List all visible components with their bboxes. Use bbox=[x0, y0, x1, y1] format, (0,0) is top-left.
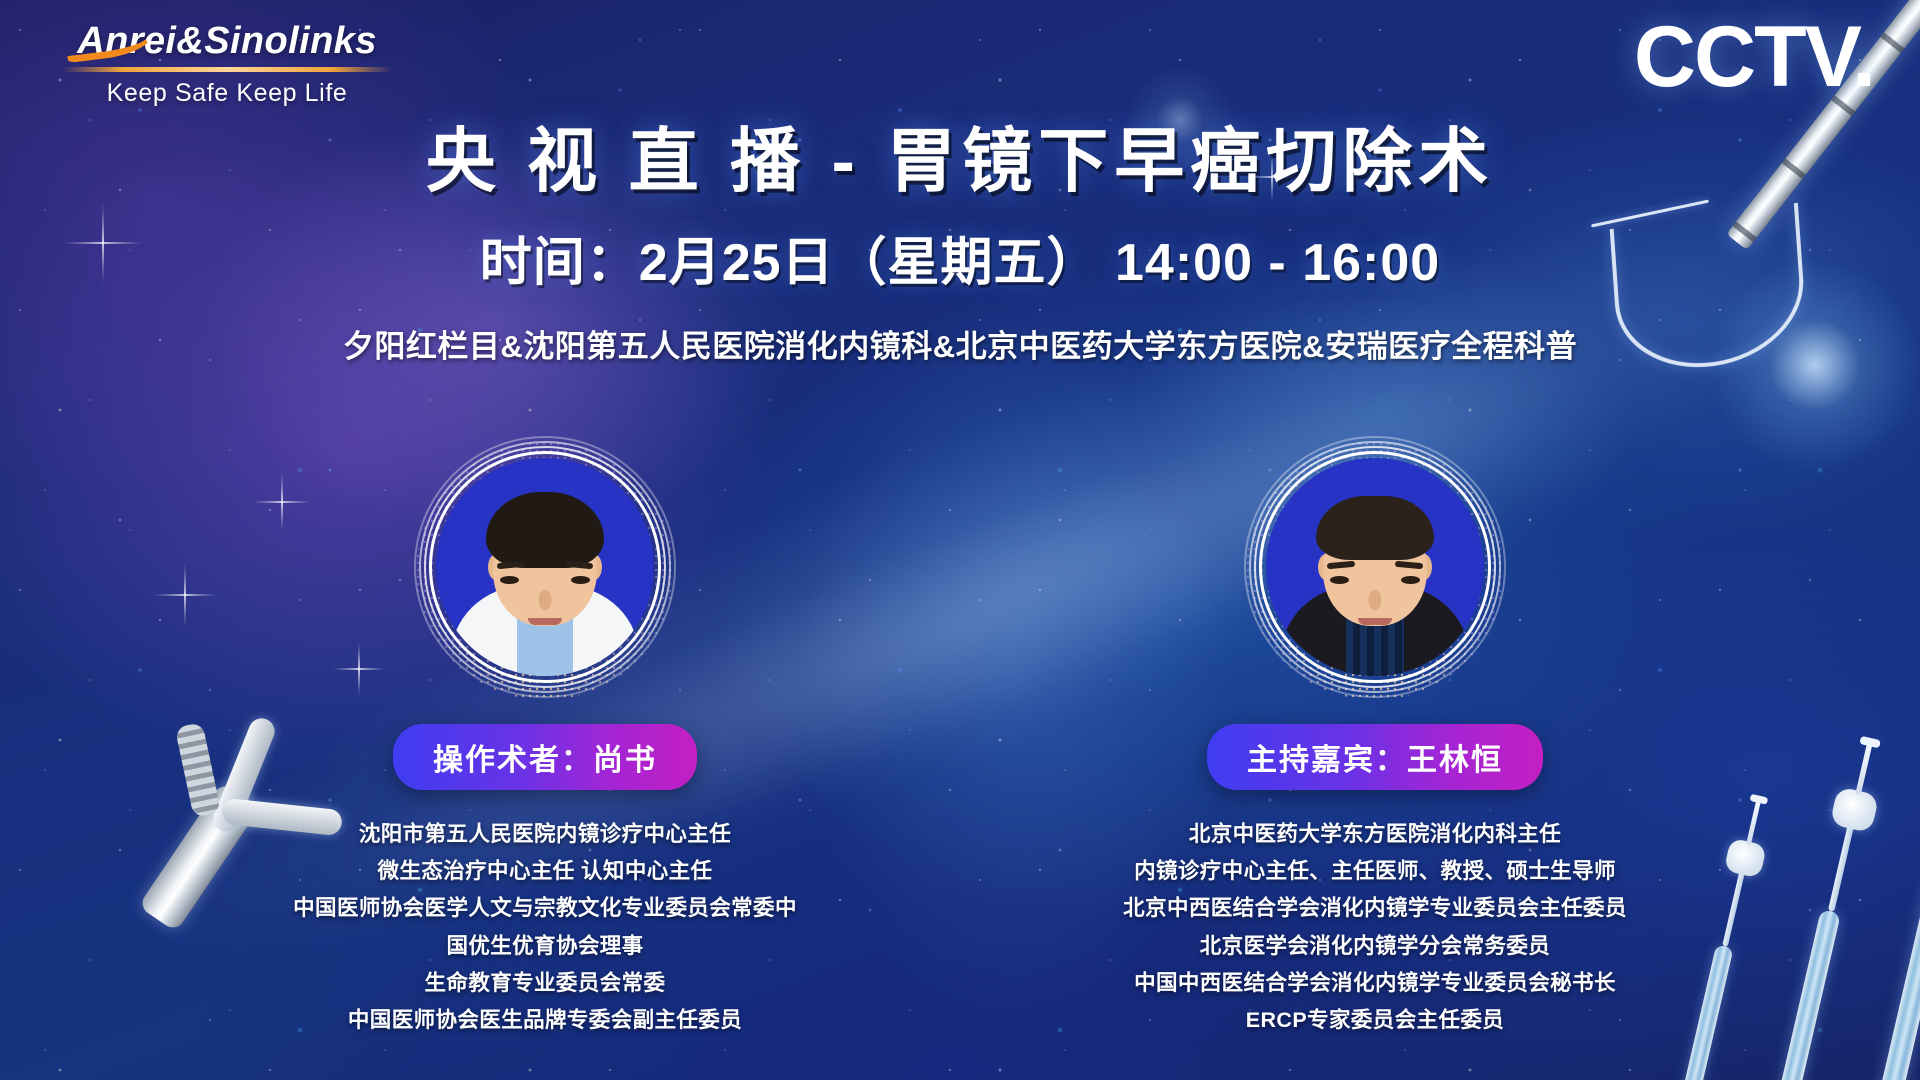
credential-line: 中国医师协会医生品牌专委会副主任委员 bbox=[293, 1002, 797, 1039]
avatar-photo bbox=[436, 458, 654, 676]
credential-line: 国优生优育协会理事 bbox=[293, 928, 797, 965]
credential-line: 生命教育专业委员会常委 bbox=[293, 965, 797, 1002]
brand-divider bbox=[62, 67, 392, 72]
speaker-credentials: 北京中医药大学东方医院消化内科主任 内镜诊疗中心主任、主任医师、教授、硕士生导师… bbox=[1123, 816, 1627, 1039]
avatar-host bbox=[1260, 452, 1490, 682]
credential-line: 中国中西医结合学会消化内镜学专业委员会秘书长 bbox=[1123, 965, 1627, 1002]
speaker-credentials: 沈阳市第五人民医院内镜诊疗中心主任 微生态治疗中心主任 认知中心主任 中国医师协… bbox=[293, 816, 797, 1039]
cctv-logo: CCTV. bbox=[1634, 14, 1874, 100]
credential-line: ERCP专家委员会主任委员 bbox=[1123, 1002, 1627, 1039]
credential-line: 北京中西医结合学会消化内镜学专业委员会主任委员 bbox=[1123, 890, 1627, 927]
brand-tagline: Keep Safe Keep Life bbox=[62, 79, 392, 108]
event-time: 时间：2月25日（星期五） 14:00 - 16:00 bbox=[0, 220, 1920, 295]
avatar-operator bbox=[430, 452, 660, 682]
organizers-line: 夕阳红栏目&沈阳第五人民医院消化内镜科&北京中医药大学东方医院&安瑞医疗全程科普 bbox=[0, 321, 1920, 366]
credential-line: 北京医学会消化内镜学分会常务委员 bbox=[1123, 928, 1627, 965]
speaker-role-badge: 操作术者：尚书 bbox=[393, 724, 697, 790]
credential-line: 北京中医药大学东方医院消化内科主任 bbox=[1123, 816, 1627, 853]
credential-line: 沈阳市第五人民医院内镜诊疗中心主任 bbox=[293, 816, 797, 853]
credential-line: 中国医师协会医学人文与宗教文化专业委员会常委中 bbox=[293, 890, 797, 927]
speaker-card-host: 主持嘉宾：王林恒 北京中医药大学东方医院消化内科主任 内镜诊疗中心主任、主任医师… bbox=[1055, 452, 1695, 1039]
speaker-card-operator: 操作术者：尚书 沈阳市第五人民医院内镜诊疗中心主任 微生态治疗中心主任 认知中心… bbox=[225, 452, 865, 1039]
livestream-poster: Anrei&Sinolinks Keep Safe Keep Life CCTV… bbox=[0, 0, 1920, 1080]
page-title: 央 视 直 播 - 胃镜下早癌切除术 bbox=[0, 122, 1920, 200]
speaker-role-badge: 主持嘉宾：王林恒 bbox=[1207, 724, 1543, 790]
brand-logo: Anrei&Sinolinks Keep Safe Keep Life bbox=[62, 22, 392, 108]
headline-block: 央 视 直 播 - 胃镜下早癌切除术 时间：2月25日（星期五） 14:00 -… bbox=[0, 122, 1920, 366]
credential-line: 微生态治疗中心主任 认知中心主任 bbox=[293, 853, 797, 890]
speakers-section: 操作术者：尚书 沈阳市第五人民医院内镜诊疗中心主任 微生态治疗中心主任 认知中心… bbox=[0, 452, 1920, 1039]
avatar-photo bbox=[1266, 458, 1484, 676]
credential-line: 内镜诊疗中心主任、主任医师、教授、硕士生导师 bbox=[1123, 853, 1627, 890]
